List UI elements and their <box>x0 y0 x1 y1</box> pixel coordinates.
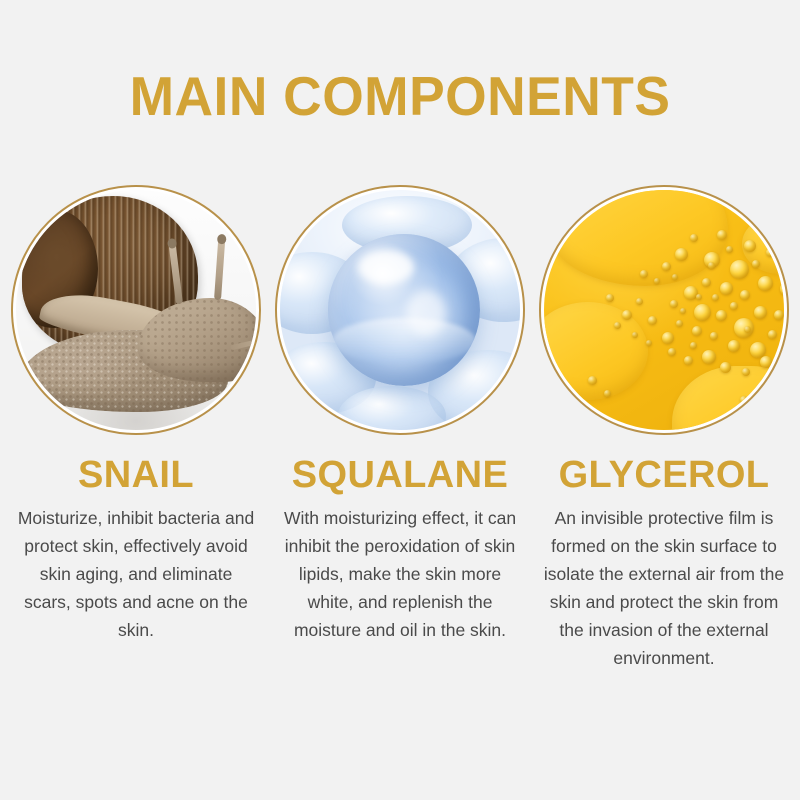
oil-bubble-shape <box>758 386 770 398</box>
snail-photo <box>16 190 256 430</box>
oil-bubble-shape <box>752 260 760 268</box>
oil-bubble-shape <box>717 230 727 240</box>
oil-bubble-shape <box>606 294 614 302</box>
oil-bubble-shape <box>768 330 777 339</box>
sphere-highlight <box>358 250 414 284</box>
oil-bubble-shape <box>744 326 751 333</box>
oil-bubble-shape <box>716 310 727 321</box>
component-card-squalane: SQUALANE With moisturizing effect, it ca… <box>272 185 528 672</box>
oil-bubble-shape <box>696 294 702 300</box>
oil-bubble-shape <box>760 356 772 368</box>
oil-bubble-shape <box>726 246 733 253</box>
water-sphere-shape <box>328 234 480 386</box>
oil-bubble-shape <box>712 294 719 301</box>
oil-bubble-shape <box>694 304 711 321</box>
oil-bubble-shape <box>670 300 678 308</box>
oil-bubble-shape <box>692 326 702 336</box>
oil-bubble-shape <box>740 290 750 300</box>
oil-bubble-shape <box>675 248 688 261</box>
component-card-snail: SNAIL Moisturize, inhibit bacteria and p… <box>8 185 264 672</box>
oil-bubble-shape <box>702 278 711 287</box>
oil-bubble-shape <box>730 302 738 310</box>
component-title-glycerol: GLYCEROL <box>559 454 770 496</box>
oil-bubble-shape <box>744 240 756 252</box>
oil-bubble-shape <box>690 342 697 349</box>
oil-bubble-shape <box>680 308 686 314</box>
oil-bubble-shape <box>648 316 657 325</box>
oil-bubble-shape <box>622 310 632 320</box>
snail-tentacle-right-shape <box>214 238 225 300</box>
blue-glass-sphere-photo <box>280 190 520 430</box>
oil-bubble-cluster <box>544 190 784 430</box>
oil-bubble-shape <box>646 340 652 346</box>
glycerol-medallion <box>539 185 789 435</box>
oil-bubble-shape <box>684 356 693 365</box>
sphere-highlight-secondary <box>406 290 446 336</box>
component-description-snail: Moisturize, inhibit bacteria and protect… <box>14 504 258 644</box>
component-card-glycerol: GLYCEROL An invisible protective film is… <box>536 185 792 672</box>
component-description-glycerol: An invisible protective film is formed o… <box>542 504 786 672</box>
oil-bubble-shape <box>654 278 660 284</box>
snail-medallion <box>11 185 261 435</box>
oil-bubble-shape <box>588 376 597 385</box>
component-title-snail: SNAIL <box>78 454 194 496</box>
oil-bubble-shape <box>668 348 676 356</box>
oil-bubble-shape <box>730 260 749 279</box>
oil-bubble-shape <box>676 320 683 327</box>
oil-bubble-shape <box>672 274 678 280</box>
squalane-medallion <box>275 185 525 435</box>
oil-bubble-shape <box>766 248 775 257</box>
oil-bubble-shape <box>632 332 638 338</box>
oil-bubble-shape <box>720 362 731 373</box>
product-ingredients-infographic: MAIN COMPONENTS SNAIL Moisturize, inhibi… <box>0 0 800 800</box>
components-row: SNAIL Moisturize, inhibit bacteria and p… <box>0 185 800 672</box>
oil-bubble-shape <box>640 270 648 278</box>
oil-bubble-shape <box>662 332 674 344</box>
component-title-squalane: SQUALANE <box>292 454 508 496</box>
oil-bubble-shape <box>614 322 621 329</box>
oil-bubble-shape <box>780 282 784 296</box>
page-title: MAIN COMPONENTS <box>12 66 788 126</box>
oil-bubble-shape <box>636 298 643 305</box>
yellow-oil-bubbles-photo <box>544 190 784 430</box>
oil-bubble-shape <box>728 340 740 352</box>
sphere-refraction-band <box>332 318 476 364</box>
oil-bubble-shape <box>720 282 733 295</box>
oil-bubble-shape <box>662 262 671 271</box>
oil-bubble-shape <box>774 310 784 320</box>
oil-bubble-shape <box>758 276 773 291</box>
oil-bubble-shape <box>690 234 698 242</box>
oil-bubble-shape <box>754 306 767 319</box>
oil-bubble-shape <box>702 350 716 364</box>
oil-bubble-shape <box>604 390 611 397</box>
oil-bubble-shape <box>710 332 718 340</box>
oil-bubble-shape <box>740 396 748 404</box>
oil-bubble-shape <box>742 368 750 376</box>
component-description-squalane: With moisturizing effect, it can inhibit… <box>278 504 522 644</box>
oil-bubble-shape <box>708 262 715 269</box>
